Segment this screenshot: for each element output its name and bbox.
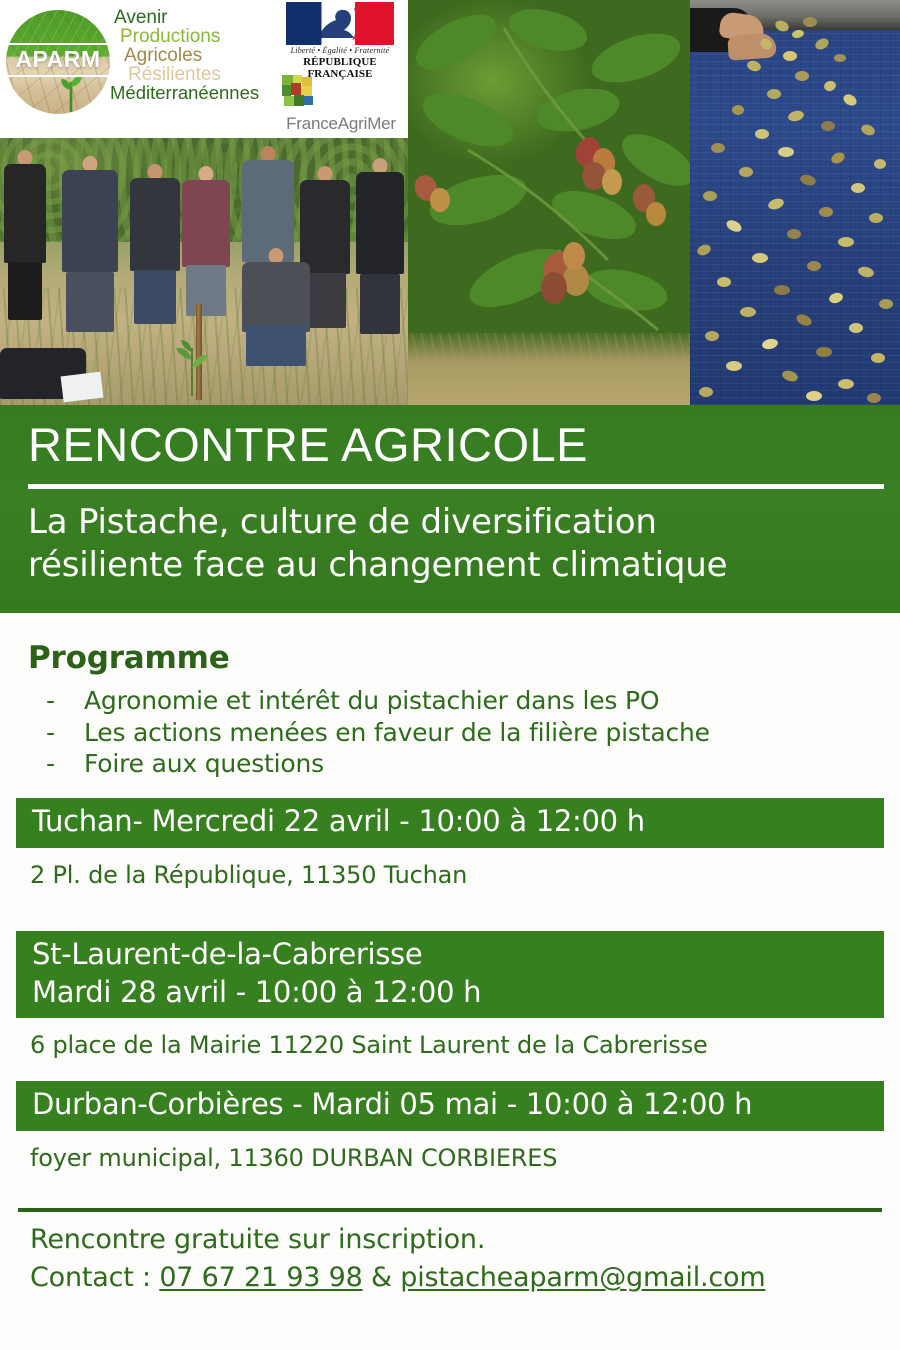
title-block: RENCONTRE AGRICOLE La Pistache, culture … xyxy=(0,405,900,613)
event-bar: Durban-Corbières - Mardi 05 mai - 10:00 … xyxy=(16,1081,884,1131)
bullet-marker: - xyxy=(46,717,84,749)
page-title: RENCONTRE AGRICOLE xyxy=(28,419,880,472)
contact-phone[interactable]: 07 67 21 93 98 xyxy=(159,1262,362,1293)
aparm-word-2: Productions xyxy=(110,27,278,46)
event-tuchan: Tuchan- Mercredi 22 avril - 10:00 à 12:0… xyxy=(16,798,884,889)
event-datetime: Mardi 28 avril - 10:00 à 12:00 h xyxy=(32,974,884,1012)
young-pistachio-tree-icon xyxy=(168,334,212,396)
notebook-icon xyxy=(61,372,104,403)
person-figure xyxy=(182,166,230,316)
person-figure xyxy=(62,156,118,332)
registration-note: Rencontre gratuite sur inscription. xyxy=(30,1221,765,1259)
subtitle-line-2: résiliente face au changement climatique xyxy=(28,544,880,588)
republique-francaise-logo: Liberté • Égalité • Fraternité RÉPUBLIQU… xyxy=(276,2,404,72)
page-subtitle: La Pistache, culture de diversification … xyxy=(28,501,880,588)
pistachio-kernels xyxy=(690,0,900,405)
event-address: 6 place de la Mairie 11220 Saint Laurent… xyxy=(16,1018,884,1059)
left-column: APARM Avenir Productions Agricoles Résil… xyxy=(0,0,408,405)
event-title: St-Laurent-de-la-Cabrerisse xyxy=(32,936,884,974)
footer-contact: Rencontre gratuite sur inscription. Cont… xyxy=(30,1221,765,1298)
contact-line: Contact : 07 67 21 93 98 & pistacheaparm… xyxy=(30,1259,765,1297)
person-figure xyxy=(4,150,46,320)
event-address: 2 Pl. de la République, 11350 Tuchan xyxy=(16,848,884,889)
event-bar: Tuchan- Mercredi 22 avril - 10:00 à 12:0… xyxy=(16,798,884,848)
aparm-logo: APARM xyxy=(6,10,110,114)
contact-email[interactable]: pistacheaparm@gmail.com xyxy=(400,1262,765,1293)
aparm-word-1: Avenir xyxy=(110,8,278,27)
event-title: Durban-Corbières - Mardi 05 mai - 10:00 … xyxy=(32,1086,884,1124)
event-durban-corbieres: Durban-Corbières - Mardi 05 mai - 10:00 … xyxy=(16,1081,884,1172)
person-figure xyxy=(130,164,180,324)
poster-root: APARM Avenir Productions Agricoles Résil… xyxy=(0,0,900,1350)
aparm-word-3: Agricoles xyxy=(110,46,278,65)
contact-label: Contact : xyxy=(30,1262,159,1293)
header-media-band: APARM Avenir Productions Agricoles Résil… xyxy=(0,0,900,405)
aparm-wordmark: Avenir Productions Agricoles Résilientes… xyxy=(110,8,278,103)
pistachio-branch-photo xyxy=(408,0,690,405)
person-figure-crouching xyxy=(242,246,310,366)
programme-item-label: Agronomie et intérêt du pistachier dans … xyxy=(84,686,659,715)
event-title: Tuchan- Mercredi 22 avril - 10:00 à 12:0… xyxy=(32,803,884,841)
title-divider xyxy=(28,484,884,489)
event-address: foyer municipal, 11360 DURBAN CORBIERES xyxy=(16,1131,884,1172)
pistachio-sorting-photo xyxy=(690,0,900,405)
group-in-orchard-photo xyxy=(0,138,408,405)
franceagrimer-logo: FranceAgriMer xyxy=(280,74,402,134)
franceagrimer-name: FranceAgriMer xyxy=(280,114,402,134)
programme-item-label: Foire aux questions xyxy=(84,749,324,778)
subtitle-line-1: La Pistache, culture de diversification xyxy=(28,501,880,545)
aparm-word-5: Méditerranéennes xyxy=(110,84,278,103)
programme-item: -Foire aux questions xyxy=(46,748,876,780)
french-flag-icon xyxy=(286,2,394,45)
person-figure xyxy=(356,158,404,334)
aparm-acronym: APARM xyxy=(6,43,110,77)
programme-item: -Agronomie et intérêt du pistachier dans… xyxy=(46,685,876,717)
photo2-dry-litter xyxy=(408,333,690,405)
republique-motto: Liberté • Égalité • Fraternité xyxy=(276,46,404,55)
programme-item-label: Les actions menées en faveur de la filiè… xyxy=(84,718,710,747)
body-content: Programme -Agronomie et intérêt du pista… xyxy=(0,613,900,1350)
programme-item: -Les actions menées en faveur de la fili… xyxy=(46,717,876,749)
franceagrimer-mosaic-icon xyxy=(280,74,320,108)
programme-list: -Agronomie et intérêt du pistachier dans… xyxy=(46,685,876,780)
logo-strip: APARM Avenir Productions Agricoles Résil… xyxy=(0,0,408,138)
bullet-marker: - xyxy=(46,685,84,717)
event-bar: St-Laurent-de-la-Cabrerisse Mardi 28 avr… xyxy=(16,931,884,1018)
marianne-profile-icon xyxy=(314,4,370,44)
footer-divider xyxy=(18,1208,882,1212)
contact-separator: & xyxy=(363,1262,401,1293)
event-st-laurent-de-la-cabrerisse: St-Laurent-de-la-Cabrerisse Mardi 28 avr… xyxy=(16,931,884,1059)
bullet-marker: - xyxy=(46,748,84,780)
programme-heading: Programme xyxy=(28,640,230,676)
